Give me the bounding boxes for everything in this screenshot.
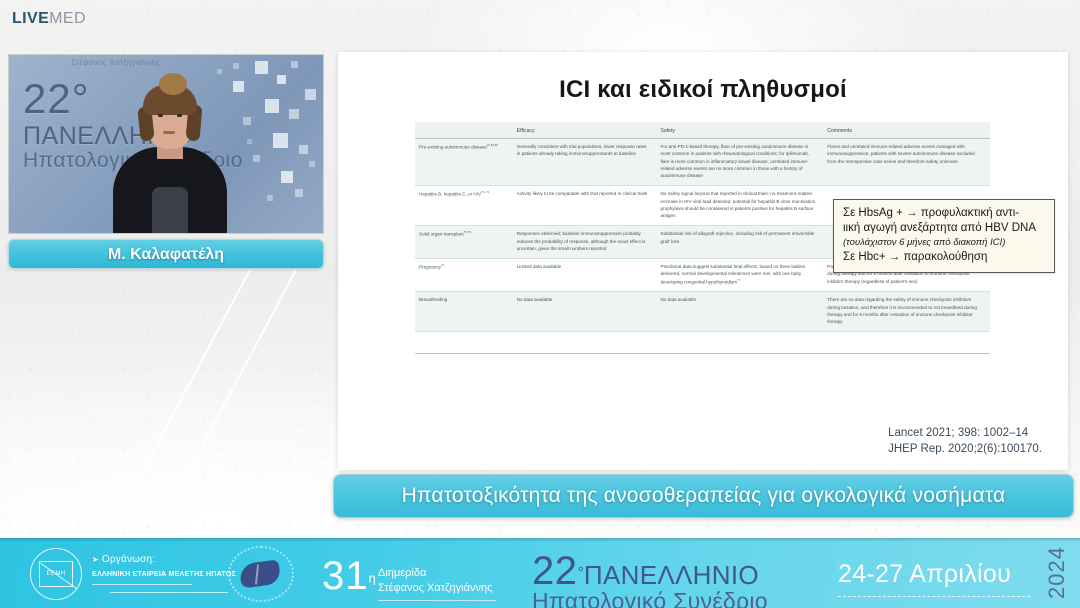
eemh-logo-text: ΕΕΜΗ [47,571,66,577]
congress-subtitle: Ηπατολογικό Συνέδριο [532,588,768,608]
cell-safety: For anti-PD-1-based therapy, flare of pr… [657,139,824,186]
cell-safety: No safety signal beyond that reported in… [657,186,824,226]
congress-block: 22°ΠΑΝΕΛΛΗΝΙΟ Ηπατολογικό Συνέδριο [532,550,768,608]
liver-icon [228,546,294,602]
backdrop-top-text: Στέφανος Χατζηγιάννης [71,58,160,67]
meeting-number: 31η [322,556,376,596]
table-row: Pre-existing autoimmune disease21,52,53 … [415,139,990,186]
table-header-safety: Safety [657,122,824,139]
cell-topic: Pre-existing autoimmune disease21,52,53 [415,139,513,186]
cell-topic-sup: 75,76 [464,230,471,234]
callout-line-2: ιική αγωγή ανεξάρτητα από HBV DNA [843,221,1045,236]
cell-safety: Substantial risk of allograft rejection,… [657,226,824,259]
meeting-rule [378,600,496,601]
arrow-icon: ➤ [92,555,99,564]
cell-spacer [823,332,990,354]
cell-efficacy: Generally consistent with trial populati… [513,139,657,186]
organizer-block: ➤Οργάνωση: ΕΛΛΗΝΙΚΗ ΕΤΑΙΡΕΙΑ ΜΕΛΕΤΗΣ ΗΠΑ… [92,554,236,593]
speaker-name-label: Μ. Καλαφατέλη [8,239,324,269]
table-header-comments: Comments [823,122,990,139]
speaker-silhouette [105,77,235,233]
cell-spacer [415,332,513,354]
slide-citations: Lancet 2021; 398: 1002–14 JHEP Rep. 2020… [888,425,1042,458]
cell-topic: Hepatitis B, hepatitis C, or HIV71–74 [415,186,513,226]
slide-title: ICI και ειδικοί πληθυσμοί [338,76,1068,104]
meeting-number-value: 31 [322,554,369,598]
session-title-text: Ηπατοτοξικότητα της ανοσοθεραπείας για ο… [402,484,1006,508]
meeting-person: Στέφανος Χατζηγιάννης [378,581,492,596]
organizer-label: ➤Οργάνωση: [92,554,236,565]
organizer-rule-2 [110,592,228,593]
table-header-row: Efficacy Safety Comments [415,122,990,139]
speaker-video-frame[interactable]: Στέφανος Χατζηγιάννης 22° ΠΑΝΕΛΛΗΝΙΟ Ηπα… [8,54,324,234]
cell-efficacy: Activity likely to be comparable with th… [513,186,657,226]
callout-line-3: (τουλάχιστον 6 μήνες από διακοπή ICI) [843,236,1045,250]
cell-spacer [657,332,824,354]
livemed-logo-med: MED [49,10,86,27]
footer-top-divider [0,538,1080,542]
organizer-rule-1 [92,584,192,585]
cell-safety: Preclinical data suggest substantial fet… [657,259,824,292]
table-head: Efficacy Safety Comments [415,122,990,139]
callout-line-1: Σε HbsAg + → προφυλακτική αντι- [843,206,1045,221]
congress-word: ΠΑΝΕΛΛΗΝΙΟ [584,560,759,591]
citation-line-2: JHEP Rep. 2020;2(6):100170. [888,441,1042,458]
cell-comments: Flares and unrelated immune-related adve… [823,139,990,186]
meeting-number-suffix: η [369,571,376,586]
session-title-banner: Ηπατοτοξικότητα της ανοσοθεραπείας για ο… [333,474,1074,518]
cell-topic: Solid organ transplant75,76 [415,226,513,259]
speaker-video-card[interactable]: Στέφανος Χατζηγιάννης 22° ΠΑΝΕΛΛΗΝΙΟ Ηπα… [8,54,324,269]
congress-year: 2024 [1044,546,1070,599]
cell-safety-sup: 77 [737,278,740,282]
cell-efficacy: Limited data available [513,259,657,292]
livemed-logo: LIVEMED [12,10,86,28]
cell-comments: There are no data regarding the safety o… [823,292,990,332]
cell-topic: Pregnancy77 [415,259,513,292]
table-row-spacer [415,332,990,354]
cell-efficacy: Responses observed; baseline immunosuppr… [513,226,657,259]
eemh-society-logo: ΕΕΜΗ [30,548,82,600]
cell-spacer [513,332,657,354]
cell-topic-sup: 21,52,53 [487,143,498,147]
callout-line-4: Σε Hbc+ → παρακολούθηση [843,250,1045,265]
congress-dates-rule [838,596,1030,597]
organizer-name: ΕΛΛΗΝΙΚΗ ΕΤΑΙΡΕΙΑ ΜΕΛΕΤΗΣ ΗΠΑΤΟΣ [92,569,236,578]
congress-dates: 24-27 Απριλίου [838,560,1011,589]
livemed-logo-live: LIVE [12,10,49,27]
table-header-topic [415,122,513,139]
congress-number: 22 [532,550,578,592]
table-header-efficacy: Efficacy [513,122,657,139]
meeting-subtitle: Διημερίδα Στέφανος Χατζηγιάννης [378,566,492,596]
table-row: Breastfeeding No data available No data … [415,292,990,332]
cell-efficacy: No data available [513,292,657,332]
citation-line-1: Lancet 2021; 398: 1002–14 [888,425,1042,442]
cell-safety: No data available [657,292,824,332]
cell-topic-sup: 71–74 [481,190,489,194]
meeting-kind: Διημερίδα [378,566,492,581]
eemh-logo-mark: ΕΕΜΗ [39,561,73,587]
conference-footer: ΕΕΜΗ ➤Οργάνωση: ΕΛΛΗΝΙΚΗ ΕΤΑΙΡΕΙΑ ΜΕΛΕΤΗ… [0,538,1080,608]
cell-topic-sup: 77 [441,263,444,267]
hbv-callout-box: Σε HbsAg + → προφυλακτική αντι- ιική αγω… [833,199,1055,273]
cell-topic: Breastfeeding [415,292,513,332]
